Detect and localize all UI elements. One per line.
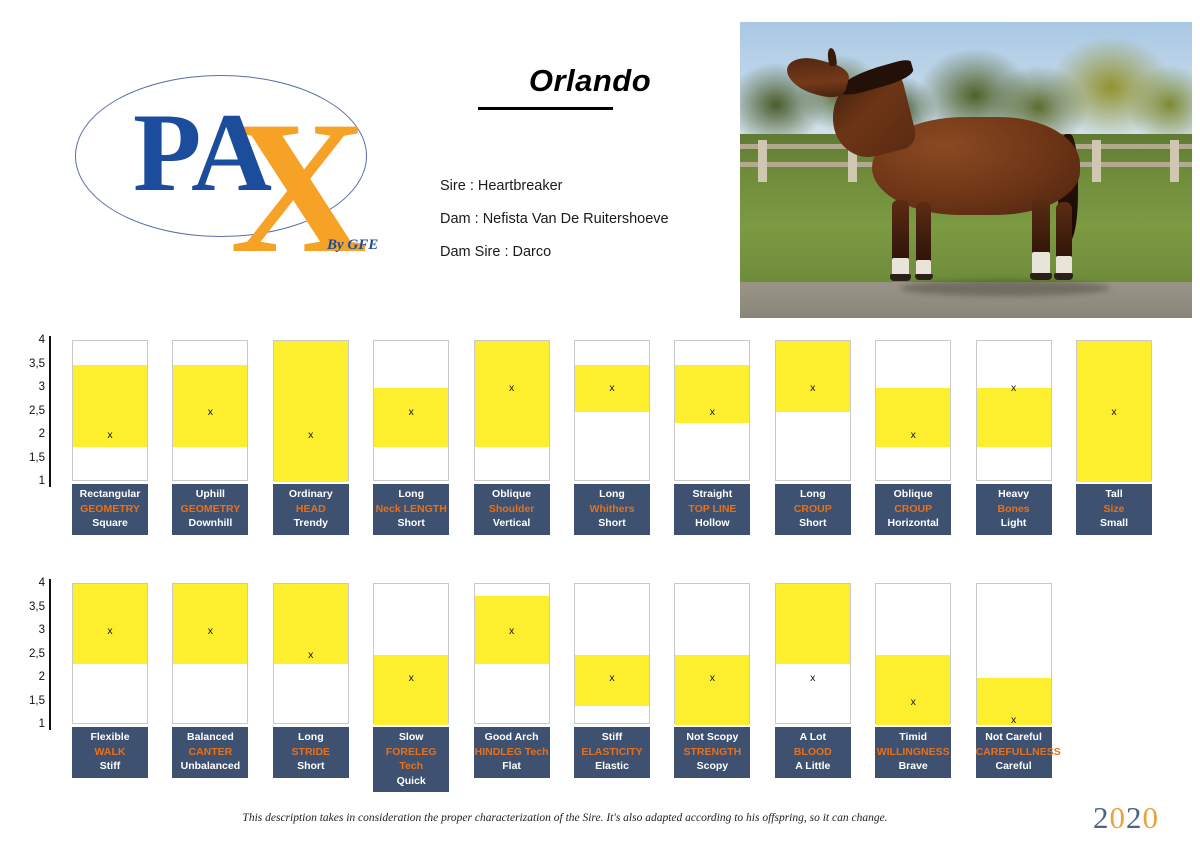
trait-label-box[interactable]: SlowFORELEG TechQuick <box>373 727 449 792</box>
pax-stallion-profile-page: X PA By GFE Orlando Sire : Heartbreaker … <box>0 0 1200 848</box>
trait-label-bottom: Short <box>373 516 449 531</box>
trait-label-bottom: Square <box>72 516 148 531</box>
trait-label-bottom: Horizontal <box>875 516 951 531</box>
trait-label-bottom: Short <box>574 516 650 531</box>
trait-label-box[interactable]: StraightTOP LINEHollow <box>674 484 750 535</box>
y-axis-tick-label: 3 <box>5 381 45 394</box>
trait-value-marker: x <box>675 407 749 417</box>
trait-label-box[interactable]: HeavyBonesLight <box>976 484 1052 535</box>
trait-label-bottom: Hollow <box>674 516 750 531</box>
trait-label-box[interactable]: LongWhithersShort <box>574 484 650 535</box>
trait-value-marker: x <box>575 673 649 683</box>
trait-label-box[interactable]: BalancedCANTERUnbalanced <box>172 727 248 778</box>
trait-name: BLOOD <box>775 745 851 760</box>
trait-range-band <box>876 655 950 726</box>
pedigree-dam-sire: Dam Sire : Darco <box>440 244 551 260</box>
trait-label-top: Flexible <box>72 730 148 745</box>
trait-bar[interactable]: x <box>775 583 851 724</box>
trait-value-marker: x <box>1077 407 1151 417</box>
trait-name: Whithers <box>574 502 650 517</box>
trait-label-top: Oblique <box>875 487 951 502</box>
trait-value-marker: x <box>977 715 1051 725</box>
y-axis-tick-label: 3,5 <box>5 601 45 614</box>
trait-label-bottom: Brave <box>875 759 951 774</box>
trait-name: STRIDE <box>273 745 349 760</box>
trait-value-marker: x <box>876 430 950 440</box>
trait-label-box[interactable]: RectangularGEOMETRYSquare <box>72 484 148 535</box>
trait-label-top: Stiff <box>574 730 650 745</box>
trait-label-box[interactable]: A LotBLOODA Little <box>775 727 851 778</box>
trait-value-marker: x <box>173 407 247 417</box>
trait-label-top: Long <box>775 487 851 502</box>
trait-name: STRENGTH <box>674 745 750 760</box>
trait-label-bottom: Flat <box>474 759 550 774</box>
trait-label-bottom: Short <box>273 759 349 774</box>
trait-bar[interactable]: x <box>474 340 550 481</box>
page-title: Orlando <box>440 63 740 99</box>
trait-range-band <box>374 655 448 726</box>
page-title-underline <box>478 107 613 110</box>
photo-horse-shadow <box>900 280 1110 296</box>
trait-name: GEOMETRY <box>72 502 148 517</box>
trait-bar[interactable]: x <box>976 340 1052 481</box>
trait-bar[interactable]: x <box>474 583 550 724</box>
trait-range-band <box>274 341 348 482</box>
trait-label-top: Long <box>574 487 650 502</box>
year-digit: 2 <box>1093 800 1110 835</box>
trait-bar[interactable]: x <box>72 340 148 481</box>
trait-label-box[interactable]: TimidWILLINGNESSBrave <box>875 727 951 778</box>
trait-name: Size <box>1076 502 1152 517</box>
trait-label-top: Not Careful <box>976 730 1052 745</box>
trait-bar[interactable]: x <box>674 340 750 481</box>
trait-label-top: Heavy <box>976 487 1052 502</box>
y-axis-tick-label: 4 <box>5 334 45 347</box>
logo-byline: By GFE <box>327 237 378 254</box>
year-digit: 0 <box>1143 800 1160 835</box>
trait-label-bottom: Quick <box>373 774 449 789</box>
trait-label-bottom: Elastic <box>574 759 650 774</box>
trait-label-top: Slow <box>373 730 449 745</box>
trait-range-band <box>675 655 749 726</box>
trait-label-bottom: Light <box>976 516 1052 531</box>
trait-label-box[interactable]: Not CarefulCAREFULLNESSCareful <box>976 727 1052 778</box>
trait-label-box[interactable]: ObliqueCROUPHorizontal <box>875 484 951 535</box>
trait-value-marker: x <box>575 383 649 393</box>
trait-label-box[interactable]: StiffELASTICITYElastic <box>574 727 650 778</box>
trait-name: TOP LINE <box>674 502 750 517</box>
trait-label-box[interactable]: LongSTRIDEShort <box>273 727 349 778</box>
trait-name: ELASTICITY <box>574 745 650 760</box>
trait-range-band <box>173 584 247 664</box>
year-digit: 0 <box>1110 800 1127 835</box>
trait-label-box[interactable]: LongNeck LENGTHShort <box>373 484 449 535</box>
trait-range-band <box>977 388 1051 447</box>
trait-bar[interactable]: x <box>72 583 148 724</box>
trait-name: WILLINGNESS <box>875 745 951 760</box>
trait-label-bottom: Stiff <box>72 759 148 774</box>
trait-name: CANTER <box>172 745 248 760</box>
trait-name: HINDLEG Tech <box>474 745 550 760</box>
y-axis-tick-label: 2,5 <box>5 405 45 418</box>
trait-bar[interactable]: x <box>574 340 650 481</box>
y-axis-tick-label: 1,5 <box>5 695 45 708</box>
trait-label-bottom: Small <box>1076 516 1152 531</box>
logo-pa-letters: PA <box>133 97 270 209</box>
y-axis-tick-label: 3 <box>5 624 45 637</box>
trait-label-bottom: A Little <box>775 759 851 774</box>
trait-range-band <box>73 584 147 664</box>
trait-label-top: Long <box>273 730 349 745</box>
trait-range-band <box>776 584 850 664</box>
trait-range-band <box>776 341 850 412</box>
trait-value-marker: x <box>374 673 448 683</box>
trait-bar[interactable]: x <box>373 340 449 481</box>
trait-label-box[interactable]: Good ArchHINDLEG TechFlat <box>474 727 550 778</box>
trait-value-marker: x <box>776 383 850 393</box>
trait-label-top: Timid <box>875 730 951 745</box>
trait-value-marker: x <box>374 407 448 417</box>
y-axis-tick-label: 3,5 <box>5 358 45 371</box>
footer-note: This description takes in consideration … <box>0 812 1130 824</box>
y-axis-tick-label: 1 <box>5 475 45 488</box>
trait-value-marker: x <box>977 383 1051 393</box>
trait-bar[interactable]: x <box>273 340 349 481</box>
trait-label-top: Rectangular <box>72 487 148 502</box>
trait-bar[interactable]: x <box>976 583 1052 724</box>
trait-label-bottom: Careful <box>976 759 1052 774</box>
trait-bar[interactable]: x <box>775 340 851 481</box>
trait-name: Shoulder <box>474 502 550 517</box>
trait-name: GEOMETRY <box>172 502 248 517</box>
trait-value-marker: x <box>274 650 348 660</box>
trait-bar[interactable]: x <box>172 340 248 481</box>
pax-logo: X PA By GFE <box>55 55 405 275</box>
y-axis-tick-label: 2 <box>5 671 45 684</box>
trait-name: CROUP <box>875 502 951 517</box>
trait-label-bottom: Short <box>775 516 851 531</box>
trait-label-bottom: Scopy <box>674 759 750 774</box>
trait-label-box[interactable]: FlexibleWALKStiff <box>72 727 148 778</box>
trait-bar[interactable]: x <box>172 583 248 724</box>
trait-label-top: Straight <box>674 487 750 502</box>
trait-name: CROUP <box>775 502 851 517</box>
trait-bar[interactable]: x <box>875 340 951 481</box>
trait-value-marker: x <box>173 626 247 636</box>
trait-bar[interactable]: x <box>373 583 449 724</box>
trait-label-bottom: Vertical <box>474 516 550 531</box>
trait-value-marker: x <box>475 383 549 393</box>
trait-label-top: A Lot <box>775 730 851 745</box>
trait-label-box[interactable]: LongCROUPShort <box>775 484 851 535</box>
y-axis-tick-label: 1,5 <box>5 452 45 465</box>
trait-label-bottom: Downhill <box>172 516 248 531</box>
trait-label-box[interactable]: ObliqueShoulderVertical <box>474 484 550 535</box>
trait-label-top: Ordinary <box>273 487 349 502</box>
y-axis-tick-label: 2 <box>5 428 45 441</box>
trait-value-marker: x <box>274 430 348 440</box>
trait-label-bottom: Unbalanced <box>172 759 248 774</box>
pedigree-sire: Sire : Heartbreaker <box>440 178 563 194</box>
trait-name: Bones <box>976 502 1052 517</box>
trait-label-box[interactable]: UphillGEOMETRYDownhill <box>172 484 248 535</box>
y-axis-line <box>49 579 51 730</box>
trait-name: Neck LENGTH <box>373 502 449 517</box>
trait-value-marker: x <box>876 697 950 707</box>
trait-label-top: Good Arch <box>474 730 550 745</box>
y-axis-tick-label: 2,5 <box>5 648 45 661</box>
trait-bar[interactable]: x <box>574 583 650 724</box>
y-axis-tick-label: 1 <box>5 718 45 731</box>
trait-label-box[interactable]: TallSizeSmall <box>1076 484 1152 535</box>
trait-bar[interactable]: x <box>1076 340 1152 481</box>
y-axis-line <box>49 336 51 487</box>
trait-value-marker: x <box>475 626 549 636</box>
trait-label-top: Balanced <box>172 730 248 745</box>
trait-label-box[interactable]: OrdinaryHEADTrendy <box>273 484 349 535</box>
trait-label-top: Oblique <box>474 487 550 502</box>
y-axis-tick-label: 4 <box>5 577 45 590</box>
stallion-photo <box>740 22 1192 318</box>
trait-name: WALK <box>72 745 148 760</box>
trait-label-top: Long <box>373 487 449 502</box>
year-stamp: 2020 <box>1093 800 1159 836</box>
trait-label-top: Uphill <box>172 487 248 502</box>
trait-label-box[interactable]: Not ScopySTRENGTHScopy <box>674 727 750 778</box>
year-digit: 2 <box>1126 800 1143 835</box>
trait-label-bottom: Trendy <box>273 516 349 531</box>
pedigree-dam: Dam : Nefista Van De Ruitershoeve <box>440 211 669 227</box>
trait-name: FORELEG Tech <box>373 745 449 774</box>
trait-name: HEAD <box>273 502 349 517</box>
trait-name: CAREFULLNESS <box>976 745 1052 760</box>
trait-label-top: Not Scopy <box>674 730 750 745</box>
trait-bar[interactable]: x <box>875 583 951 724</box>
trait-bar[interactable]: x <box>273 583 349 724</box>
trait-value-marker: x <box>675 673 749 683</box>
trait-bar[interactable]: x <box>674 583 750 724</box>
trait-label-top: Tall <box>1076 487 1152 502</box>
trait-value-marker: x <box>776 673 850 683</box>
trait-value-marker: x <box>73 626 147 636</box>
trait-value-marker: x <box>73 430 147 440</box>
